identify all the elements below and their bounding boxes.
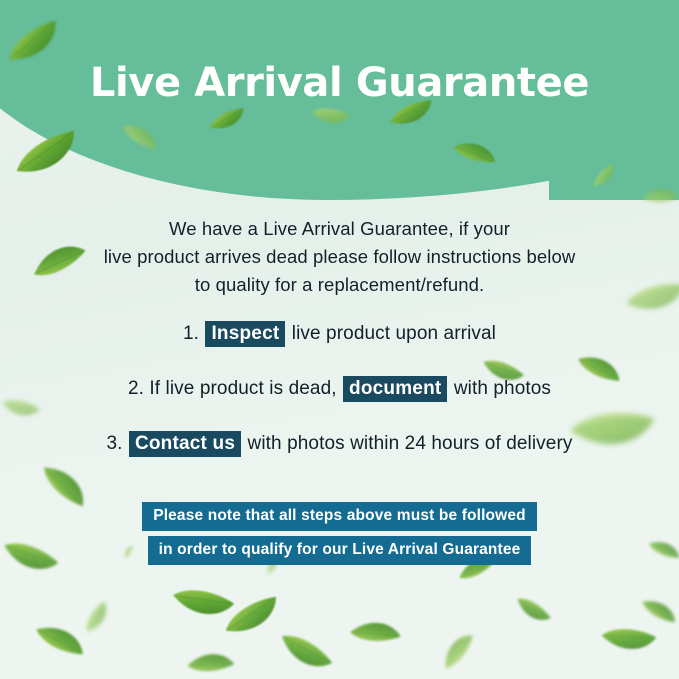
step-3-number: 3. (107, 433, 123, 454)
step-item-2: 2. If live product is dead, document wit… (30, 375, 649, 403)
step-item-3: 3. Contact us with photos within 24 hour… (30, 430, 649, 458)
intro-line-1: We have a Live Arrival Guarantee, if you… (60, 215, 619, 243)
note-banner-line-1: Please note that all steps above must be… (142, 502, 537, 531)
step-2-pre: If live product is dead, (149, 378, 336, 399)
step-2-number: 2. (128, 378, 144, 399)
step-item-1: 1. Inspect live product upon arrival (30, 320, 649, 348)
note-banner-line-2: in order to qualify for our Live Arrival… (148, 536, 532, 565)
step-3-highlight: Contact us (129, 431, 241, 457)
steps-list: 1. Inspect live product upon arrival 2. … (30, 320, 649, 485)
intro-line-3: to quality for a replacement/refund. (60, 271, 619, 299)
step-2-highlight: document (343, 376, 447, 402)
intro-paragraph: We have a Live Arrival Guarantee, if you… (60, 215, 619, 299)
step-3-post: with photos within 24 hours of delivery (248, 433, 573, 454)
step-1-post: live product upon arrival (292, 323, 496, 344)
note-banners: Please note that all steps above must be… (0, 502, 679, 565)
live-arrival-guarantee-card: Live Arrival Guarantee We have a Live Ar… (0, 0, 679, 679)
intro-line-2: live product arrives dead please follow … (60, 243, 619, 271)
step-1-highlight: Inspect (205, 321, 285, 347)
step-1-number: 1. (183, 323, 199, 344)
page-title: Live Arrival Guarantee (0, 60, 679, 106)
step-2-post: with photos (454, 378, 551, 399)
